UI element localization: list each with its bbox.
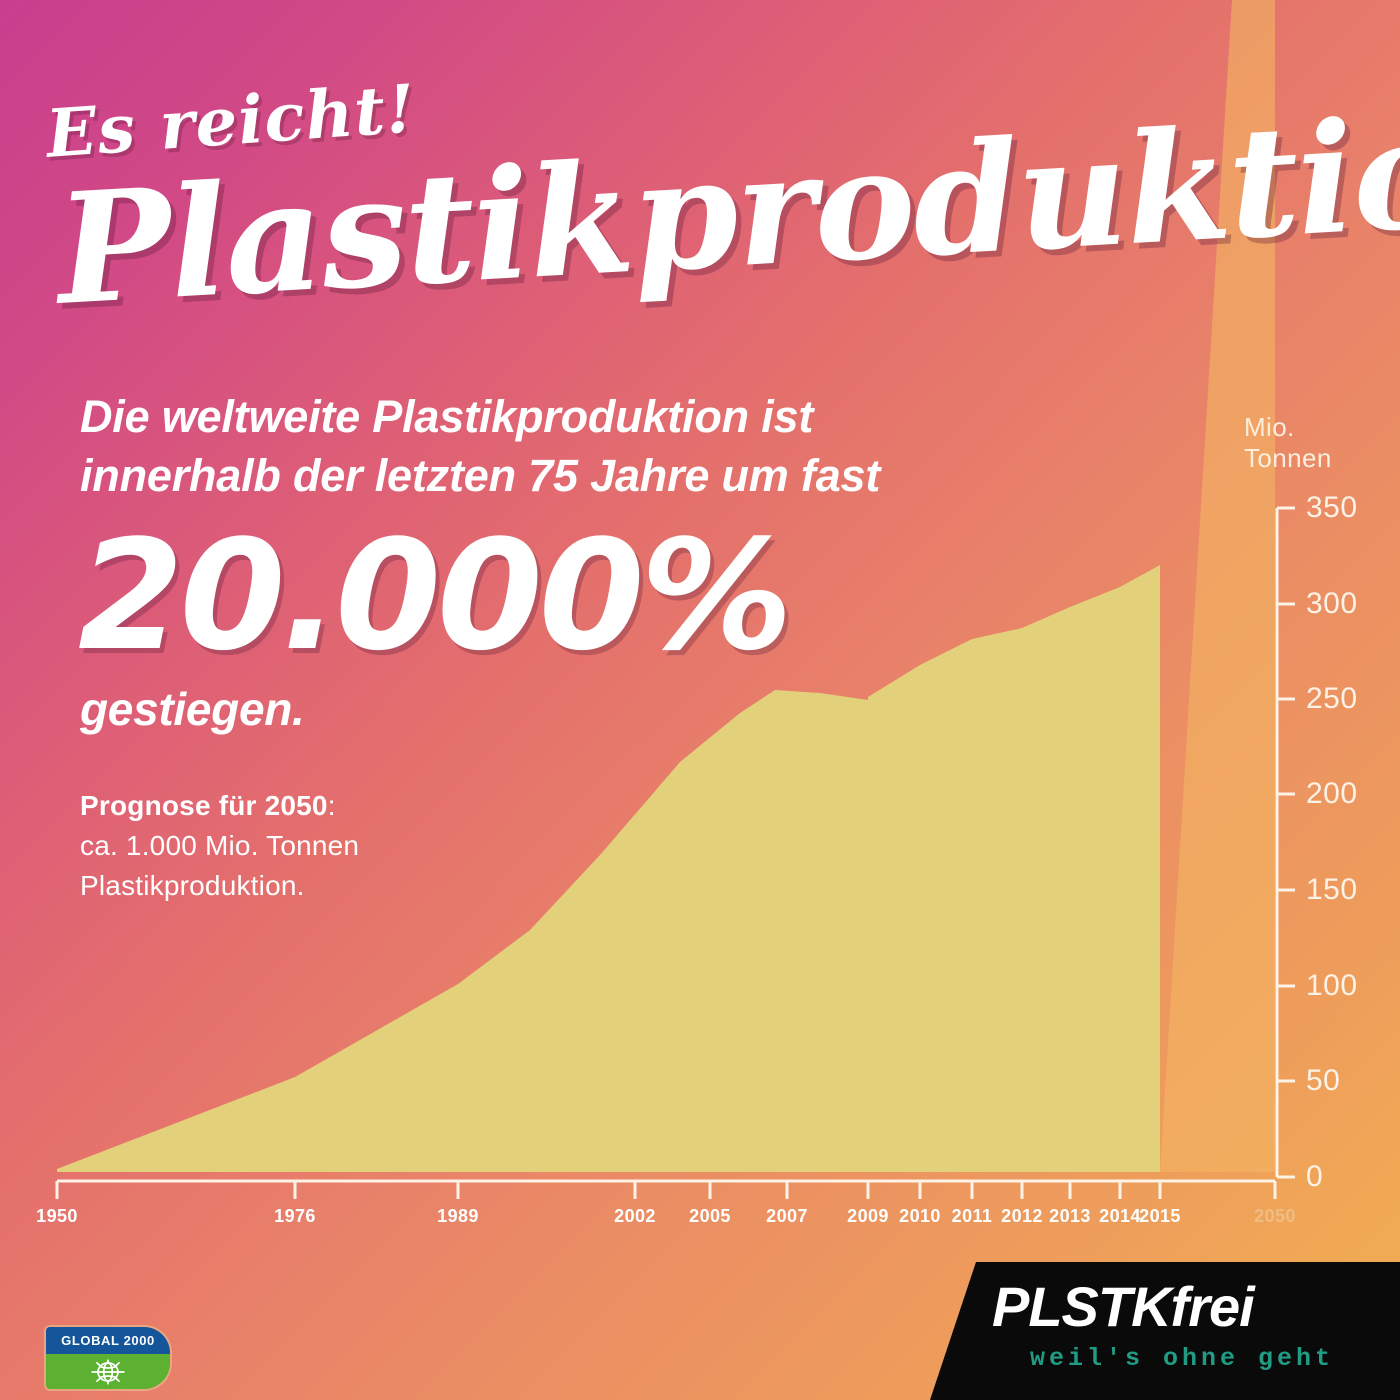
x-axis-ticks [57, 1181, 1275, 1199]
y-tick-label-200: 200 [1306, 777, 1358, 811]
x-tick-label-2050: 2050 [1254, 1206, 1296, 1227]
y-tick-label-250: 250 [1306, 682, 1358, 716]
x-tick-label-1950: 1950 [36, 1206, 78, 1227]
x-tick-label-2015: 2015 [1139, 1206, 1181, 1227]
forecast-line-2: ca. 1.000 Mio. Tonnen [80, 826, 359, 866]
x-tick-label-2009: 2009 [847, 1206, 889, 1227]
x-tick-label-1976: 1976 [274, 1206, 316, 1227]
globe-icon [89, 1358, 127, 1386]
global2000-logo[interactable]: GLOBAL 2000 [46, 1327, 170, 1389]
x-tick-label-2014: 2014 [1099, 1206, 1141, 1227]
x-tick-label-2002: 2002 [614, 1206, 656, 1227]
y-axis-ticks [1277, 508, 1295, 1177]
forecast-block: Prognose für 2050: ca. 1.000 Mio. Tonnen… [80, 786, 359, 905]
plstkfrei-logo[interactable]: PLSTKfrei weil's ohne geht [930, 1262, 1400, 1400]
lead-line-1: Die weltweite Plastikproduktion ist [80, 388, 1040, 447]
global2000-wordmark: GLOBAL 2000 [61, 1333, 155, 1348]
y-axis-unit-line-2: Tonnen [1244, 443, 1354, 474]
forecast-line-3: Plastikproduktion. [80, 866, 359, 906]
y-axis-unit-line-1: Mio. [1244, 412, 1354, 443]
forecast-colon: : [328, 790, 336, 821]
forecast-heading: Prognose für 2050: [80, 786, 359, 826]
forecast-label: Prognose für 2050 [80, 790, 328, 821]
global2000-globe-band [46, 1354, 170, 1389]
infographic-poster: Es reicht! Plastikproduktion Die weltwei… [0, 0, 1400, 1400]
x-tick-label-2005: 2005 [689, 1206, 731, 1227]
x-tick-label-2007: 2007 [766, 1206, 808, 1227]
y-tick-label-150: 150 [1306, 873, 1358, 907]
y-tick-label-350: 350 [1306, 491, 1358, 525]
plstkfrei-claim: weil's ohne geht [1030, 1344, 1334, 1373]
global2000-wordmark-band: GLOBAL 2000 [46, 1327, 170, 1354]
x-tick-label-2013: 2013 [1049, 1206, 1091, 1227]
x-tick-label-1989: 1989 [437, 1206, 479, 1227]
lead-paragraph: Die weltweite Plastikproduktion ist inne… [80, 388, 1040, 505]
x-tick-label-2011: 2011 [952, 1206, 993, 1227]
plstkfrei-wordmark: PLSTKfrei [992, 1274, 1254, 1339]
y-tick-label-100: 100 [1306, 969, 1358, 1003]
big-statistic: 20.000% [78, 520, 789, 672]
lead-line-2: innerhalb der letzten 75 Jahre um fast [80, 447, 1040, 506]
y-tick-label-300: 300 [1306, 587, 1358, 621]
statistic-suffix: gestiegen. [80, 682, 305, 736]
y-tick-label-50: 50 [1306, 1064, 1340, 1098]
x-tick-label-2010: 2010 [899, 1206, 941, 1227]
y-tick-label-0: 0 [1306, 1160, 1323, 1194]
y-axis-unit: Mio. Tonnen [1244, 412, 1354, 473]
x-tick-label-2012: 2012 [1001, 1206, 1043, 1227]
